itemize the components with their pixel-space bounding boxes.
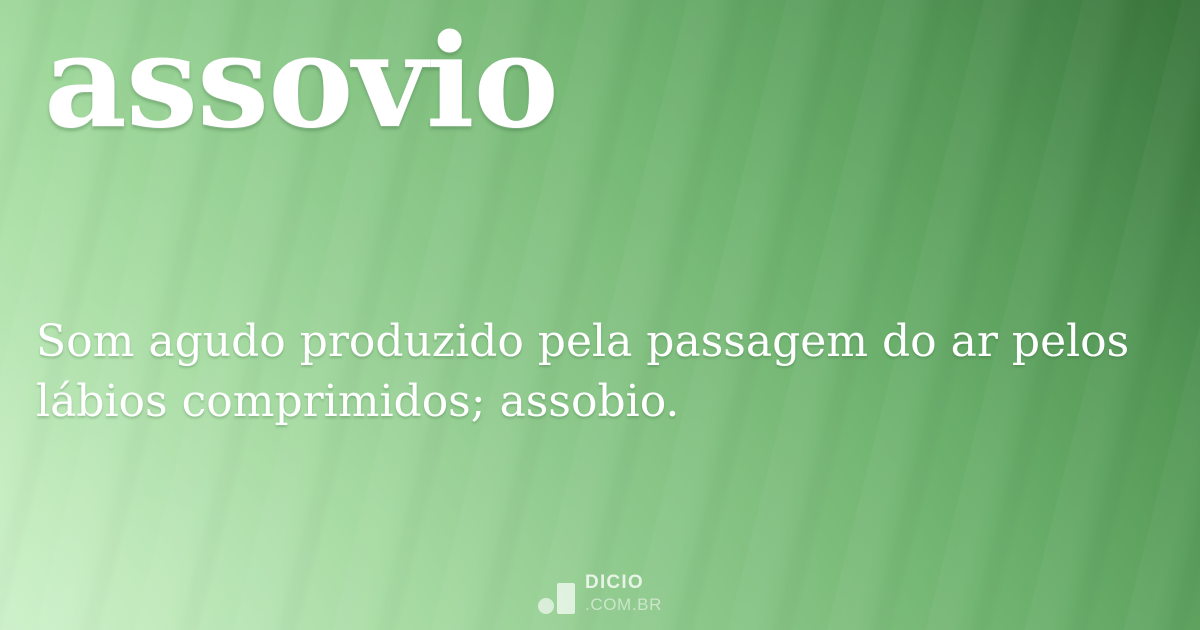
dicio-logo-mark-icon — [538, 582, 576, 614]
dicio-logo-text: DICIO .COM.BR — [585, 573, 662, 614]
logo-brand-tld: .COM.BR — [585, 596, 662, 613]
logo-bar-shape — [557, 583, 575, 614]
definition-card: assovio Som agudo produzido pela passage… — [0, 0, 1200, 630]
definition-text: Som agudo produzido pela passagem do ar … — [36, 312, 1154, 432]
dicio-logo: DICIO .COM.BR — [0, 570, 1200, 614]
logo-circle-shape — [538, 598, 554, 614]
headword-title: assovio — [44, 18, 558, 146]
card-content: assovio Som agudo produzido pela passage… — [0, 0, 1200, 630]
logo-brand-name: DICIO — [585, 573, 662, 592]
